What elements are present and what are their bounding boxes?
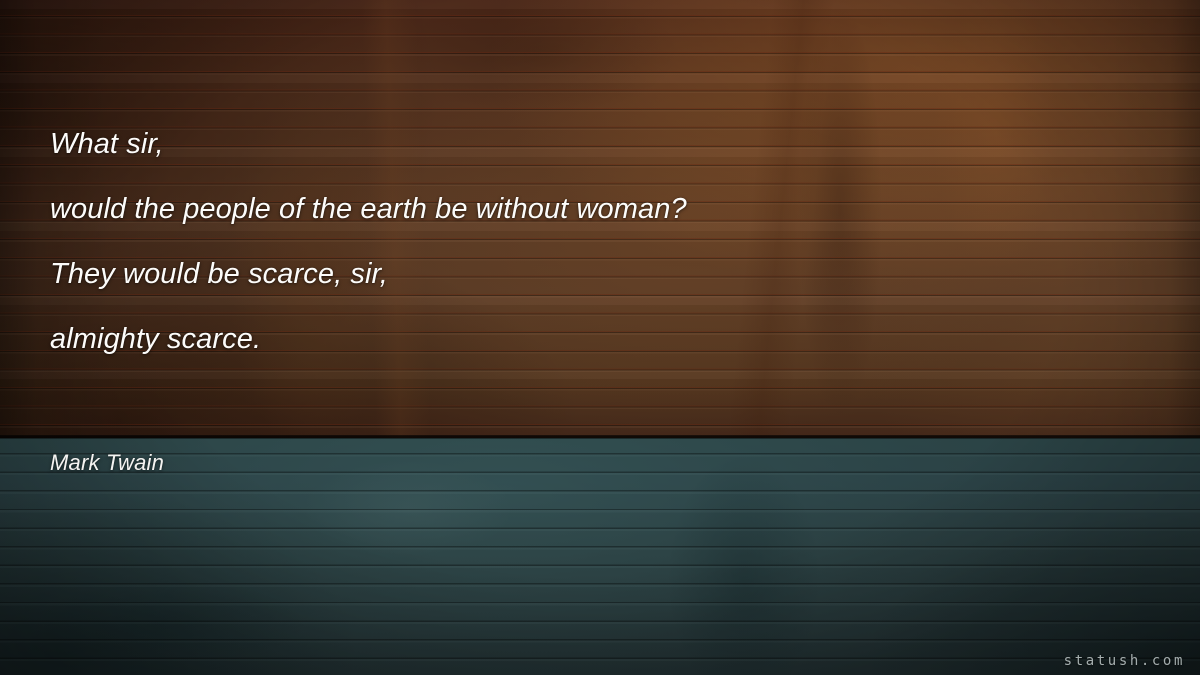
quote-line-3: They would be scarce, sir,	[50, 242, 1130, 307]
bottom-band-horizontal-rules	[0, 438, 1200, 675]
quote-text-block: What sir, would the people of the earth …	[50, 112, 1130, 372]
quote-line-1: What sir,	[50, 112, 1130, 177]
background-bottom-band	[0, 438, 1200, 675]
quote-line-2: would the people of the earth be without…	[50, 177, 1130, 242]
band-seam-divider	[0, 435, 1200, 439]
quote-author: Mark Twain	[50, 448, 164, 478]
site-watermark: statush.com	[1064, 653, 1185, 669]
quote-line-4: almighty scarce.	[50, 307, 1130, 372]
quote-card: What sir, would the people of the earth …	[0, 0, 1200, 675]
